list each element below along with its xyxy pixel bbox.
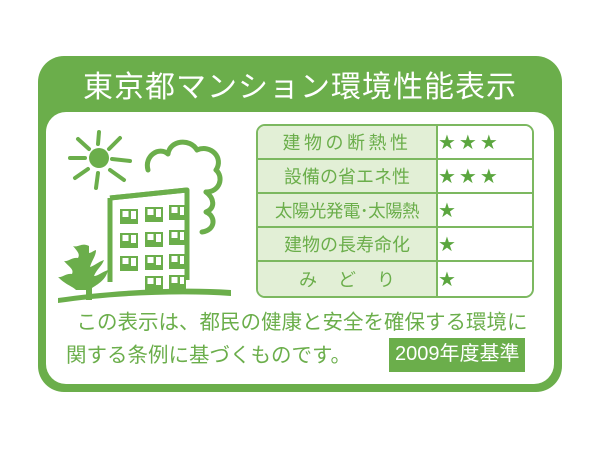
table-row: 太陽光発電･太陽熱 ★: [258, 194, 532, 228]
rating-stars: ★: [438, 262, 532, 296]
illustration-svg: [56, 120, 256, 310]
sun-icon: [70, 132, 130, 188]
footer-line-1: この表示は、都民の健康と安全を確保する環境に: [60, 308, 544, 338]
table-row: みどり ★: [258, 262, 532, 296]
table-row: 建物の断熱性 ★★★: [258, 126, 532, 160]
building-windows: [120, 205, 186, 290]
rating-item-label: 設備の省エネ性: [258, 160, 438, 194]
rating-stars: ★: [438, 194, 532, 228]
standard-year-badge: 2009年度基準: [389, 338, 526, 372]
footer-note: この表示は、都民の健康と安全を確保する環境に 関する条例に基づくものです。200…: [60, 308, 544, 372]
ground-line-icon: [58, 289, 231, 303]
rating-item-label: みどり: [258, 262, 438, 296]
footer-line-2-wrapper: 関する条例に基づくものです。2009年度基準: [60, 338, 544, 372]
rating-stars: ★★★: [438, 160, 532, 194]
rating-stars: ★★★: [438, 126, 532, 160]
label-inner-panel: 建物の断熱性 ★★★ 設備の省エネ性 ★★★ 太陽光発電･太陽熱 ★ 建物の長寿…: [46, 112, 554, 384]
rating-item-label: 建物の断熱性: [258, 126, 438, 160]
footer-line-2: 関する条例に基づくものです。: [66, 344, 351, 367]
table-row: 建物の長寿命化 ★: [258, 228, 532, 262]
rating-item-label: 建物の長寿命化: [258, 228, 438, 262]
environment-illustration: [56, 120, 256, 310]
tree-icon: [58, 245, 108, 300]
table-row: 設備の省エネ性 ★★★: [258, 160, 532, 194]
rating-item-label: 太陽光発電･太陽熱: [258, 194, 438, 228]
rating-stars: ★: [438, 228, 532, 262]
page-title: 東京都マンション環境性能表示: [38, 66, 562, 110]
mansion-environmental-performance-label: 東京都マンション環境性能表示: [38, 56, 562, 392]
environmental-rating-table: 建物の断熱性 ★★★ 設備の省エネ性 ★★★ 太陽光発電･太陽熱 ★ 建物の長寿…: [256, 124, 534, 298]
